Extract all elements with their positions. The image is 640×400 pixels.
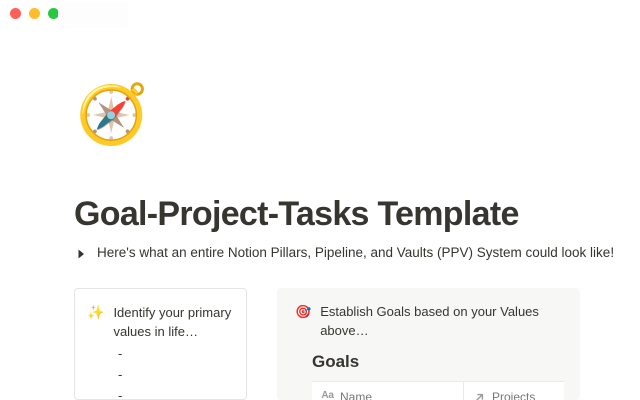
- column-list: ✨ Identify your primary values in life… …: [74, 288, 580, 400]
- list-item[interactable]: -: [118, 385, 234, 400]
- values-callout-text: Identify your primary values in life…: [113, 303, 234, 341]
- list-item[interactable]: -: [118, 364, 234, 385]
- list-item[interactable]: -: [118, 343, 234, 364]
- relation-property-icon: [473, 391, 486, 400]
- table-header-label: Name: [340, 390, 372, 400]
- toggle-block[interactable]: Here's what an entire Notion Pillars, Pi…: [74, 244, 594, 262]
- toggle-label: Here's what an entire Notion Pillars, Pi…: [97, 244, 614, 262]
- toggle-collapsed-arrow-icon[interactable]: [74, 245, 88, 263]
- page-title: Goal-Project-Tasks Template: [74, 194, 594, 234]
- goals-database-heading: Goals: [312, 351, 580, 373]
- sparkles-emoji: ✨: [87, 303, 104, 322]
- goals-callout-row: 🎯 Establish Goals based on your Values a…: [277, 302, 580, 340]
- goals-callout-card[interactable]: 🎯 Establish Goals based on your Values a…: [277, 288, 580, 400]
- goals-database-table: Aa Name Projects: [312, 381, 564, 400]
- dart-emoji: 🎯: [295, 302, 311, 321]
- goals-callout-text: Establish Goals based on your Values abo…: [320, 302, 564, 340]
- watermark-artifact: [58, 2, 128, 28]
- values-callout-card[interactable]: ✨ Identify your primary values in life… …: [74, 288, 247, 400]
- table-header-name[interactable]: Aa Name: [312, 382, 464, 400]
- values-callout-row: ✨ Identify your primary values in life…: [87, 303, 234, 341]
- values-dash-list: - - -: [87, 343, 234, 400]
- close-window-button[interactable]: [10, 8, 21, 19]
- window-title-bar: [0, 0, 640, 28]
- notion-page-content: 🧭 Goal-Project-Tasks Template Here's wha…: [0, 28, 640, 400]
- table-header-label: Projects: [492, 390, 535, 400]
- title-property-icon: Aa: [321, 391, 334, 400]
- table-header-projects[interactable]: Projects: [464, 382, 564, 400]
- traffic-light-controls: [10, 8, 59, 19]
- minimize-window-button[interactable]: [29, 8, 40, 19]
- compass-emoji[interactable]: 🧭: [76, 84, 138, 146]
